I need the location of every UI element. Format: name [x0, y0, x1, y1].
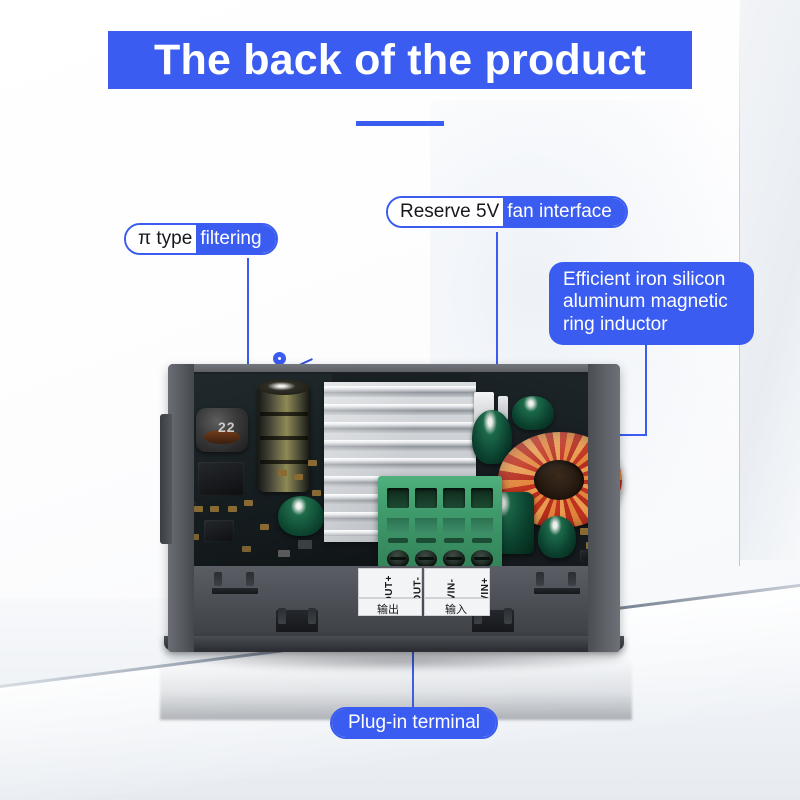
power-inductor-marking: 22: [218, 419, 236, 435]
infographic-canvas: The back of the product 22: [0, 0, 800, 800]
capacitor-band: [260, 412, 308, 416]
callout-pi-type-filtering-blue-text: filtering: [196, 225, 275, 253]
secondary-ic: [204, 520, 234, 542]
page-title: The back of the product: [154, 39, 646, 82]
callout-iron-silicon-aluminum-inductor[interactable]: Efficient iron silicon aluminum magnetic…: [549, 262, 754, 345]
smd-resistor: [244, 500, 253, 506]
smd-resistor: [278, 470, 287, 476]
smd-resistor: [312, 490, 321, 496]
callout-fan-interface-blue-text: fan interface: [503, 198, 626, 226]
front-panel-clip: [246, 572, 254, 586]
front-panel-clip: [308, 608, 316, 624]
front-panel-clip: [568, 572, 576, 586]
callout-fan-interface-light-text: Reserve 5V: [388, 198, 503, 226]
smd-component: [278, 550, 290, 557]
controller-ic: [198, 462, 244, 496]
smd-resistor: [308, 460, 317, 466]
front-panel-clip: [504, 608, 512, 624]
enclosure-side-tab: [160, 414, 172, 544]
front-panel-clip: [214, 572, 222, 586]
leader-line-inductor-vertical: [645, 334, 647, 436]
enclosure-front-lip: [164, 636, 624, 650]
smd-resistor: [194, 506, 203, 512]
terminal-legend-output: OUT+ OUT-: [358, 568, 422, 598]
page-title-banner: The back of the product: [108, 31, 692, 89]
capacitor-band: [260, 460, 308, 464]
title-underline-accent: [356, 121, 444, 126]
capacitor-band: [260, 436, 308, 440]
product-image: 22: [160, 358, 632, 658]
output-capacitor-small: [538, 516, 576, 558]
output-filter-capacitor: [278, 496, 324, 536]
smd-resistor: [294, 474, 303, 480]
terminal-legend-output-cn: 输出: [358, 598, 422, 616]
terminal-legend-input: VIN- VIN+: [424, 568, 490, 598]
circuit-board: 22: [182, 374, 606, 566]
front-panel-slot: [212, 588, 258, 594]
front-panel-clip: [278, 608, 286, 624]
smd-component: [298, 540, 312, 549]
callout-reserve-5v-fan-interface[interactable]: Reserve 5V fan interface: [386, 196, 628, 228]
front-panel-clip: [536, 572, 544, 586]
smd-resistor: [260, 524, 269, 530]
callout-pi-type-filtering[interactable]: π type filtering: [124, 223, 278, 255]
front-panel-slot: [534, 588, 580, 594]
terminal-legend-input-cn: 输入: [424, 598, 490, 616]
input-capacitor-top: [258, 379, 310, 395]
smd-resistor: [242, 546, 251, 552]
callout-plug-in-terminal-text: Plug-in terminal: [332, 709, 496, 737]
terminal-label-input-chinese: 输入: [445, 601, 467, 617]
right-filter-capacitor: [512, 396, 554, 430]
callout-plug-in-terminal[interactable]: Plug-in terminal: [330, 707, 498, 739]
smd-resistor: [210, 506, 219, 512]
callout-pi-type-filtering-light-text: π type: [126, 225, 196, 253]
terminal-label-output-chinese: 输出: [377, 601, 399, 617]
smd-resistor: [228, 506, 237, 512]
enclosure-right-wall: [588, 364, 620, 652]
